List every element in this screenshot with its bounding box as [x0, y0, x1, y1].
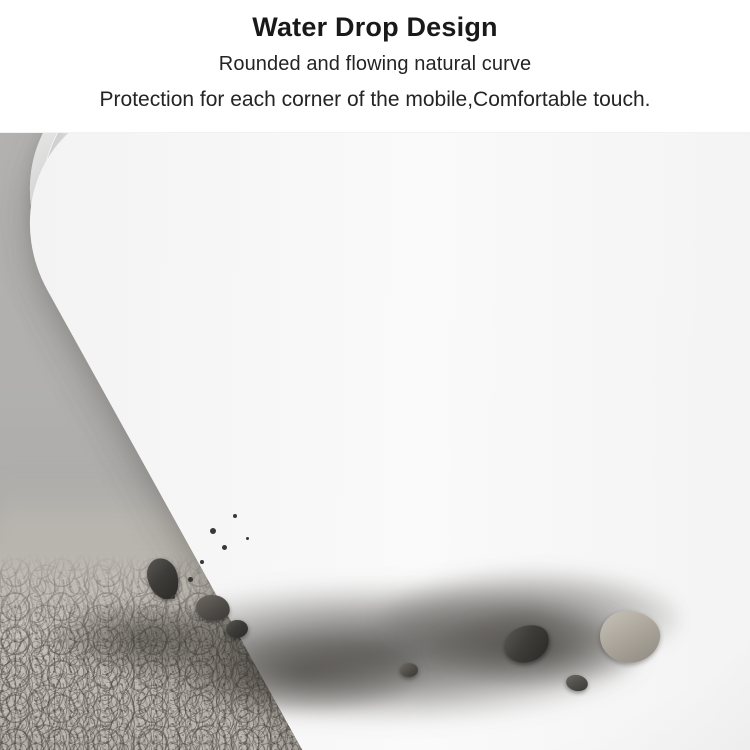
- page-title: Water Drop Design: [252, 12, 497, 43]
- subtitle-line-2: Protection for each corner of the mobile…: [100, 88, 651, 112]
- debris-speck-4: [233, 514, 237, 518]
- debris-speck-2: [222, 545, 227, 550]
- debris-speck-6: [246, 537, 249, 540]
- debris-speck-5: [188, 577, 193, 582]
- debris-speck-1: [210, 528, 216, 534]
- rock-small-center: [400, 663, 418, 677]
- debris-speck-3: [200, 560, 204, 564]
- header-photo-divider: [0, 132, 750, 133]
- product-banner: Water Drop Design Rounded and flowing na…: [0, 0, 750, 750]
- dust-cloud-center: [190, 633, 420, 713]
- debris-speck-7: [171, 595, 175, 599]
- product-photo: [0, 133, 750, 750]
- header-text-block: Water Drop Design Rounded and flowing na…: [0, 0, 750, 133]
- subtitle-line-1: Rounded and flowing natural curve: [219, 53, 531, 76]
